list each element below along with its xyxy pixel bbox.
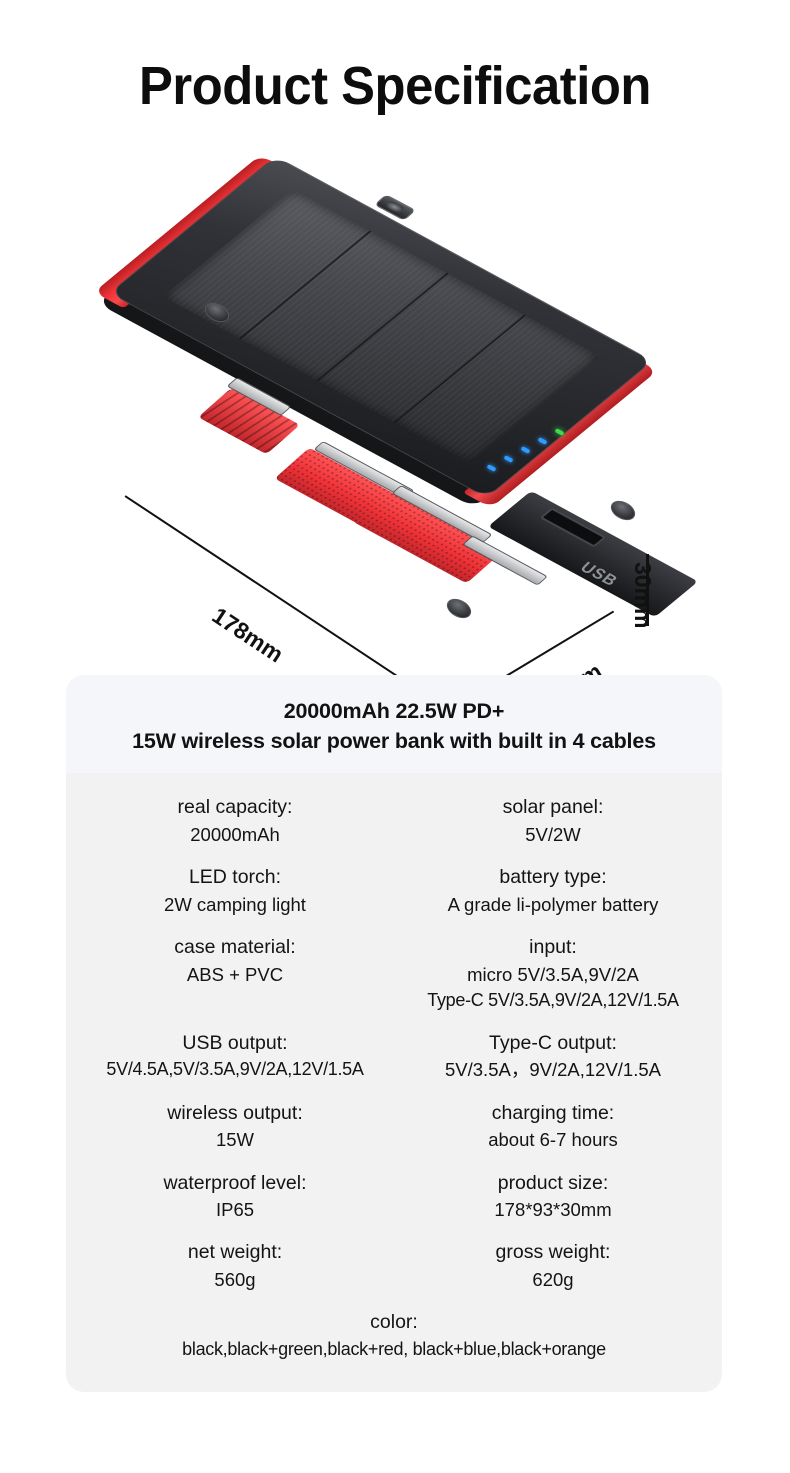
dimension-label-height: 30mm xyxy=(629,562,656,628)
spec-key: waterproof level: xyxy=(80,1170,390,1198)
spec-value: ABS + PVC xyxy=(80,962,390,988)
spec-cell-left: USB output:5V/4.5A,5V/3.5A,9V/2A,12V/1.5… xyxy=(76,1023,394,1093)
spec-value: 2W camping light xyxy=(80,892,390,918)
spec-value: 5V/3.5A，9V/2A,12V/1.5A xyxy=(398,1057,708,1083)
spec-row-color: color: black,black+green,black+red, blac… xyxy=(76,1302,712,1371)
spec-value: black,black+green,black+red, black+blue,… xyxy=(80,1337,708,1363)
spec-cell-right: Type-C output:5V/3.5A，9V/2A,12V/1.5A xyxy=(394,1023,712,1093)
spec-key: wireless output: xyxy=(80,1100,390,1128)
corner-screw xyxy=(608,497,639,524)
spec-cell-right: battery type:A grade li-polymer battery xyxy=(394,857,712,927)
spec-row: real capacity:20000mAhsolar panel:5V/2W xyxy=(76,787,712,857)
spec-value: 178*93*30mm xyxy=(398,1197,708,1223)
spec-key: LED torch: xyxy=(80,864,390,892)
spec-cell-right: input:micro 5V/3.5A,9V/2AType-C 5V/3.5A,… xyxy=(394,927,712,1023)
spec-row: net weight:560ggross weight:620g xyxy=(76,1232,712,1302)
spec-cell-left: LED torch:2W camping light xyxy=(76,857,394,927)
spec-header-line-1: 20000mAh 22.5W PD+ xyxy=(84,696,704,726)
specification-body: real capacity:20000mAhsolar panel:5V/2WL… xyxy=(66,773,722,1379)
spec-cell-right: solar panel:5V/2W xyxy=(394,787,712,857)
power-bank-illustration: USB xyxy=(106,172,666,592)
spec-value: Type-C 5V/3.5A,9V/2A,12V/1.5A xyxy=(398,988,708,1014)
spec-key: real capacity: xyxy=(80,794,390,822)
product-hero-image: USB 178mm 93mm 30mm xyxy=(0,150,790,620)
spec-key: Type-C output: xyxy=(398,1030,708,1058)
spec-cell-left: net weight:560g xyxy=(76,1232,394,1302)
spec-key: input: xyxy=(398,934,708,962)
spec-key: net weight: xyxy=(80,1239,390,1267)
specification-card: 20000mAh 22.5W PD+ 15W wireless solar po… xyxy=(66,675,722,1392)
spec-value: 560g xyxy=(80,1267,390,1293)
product-specification-page: Product Specification xyxy=(0,0,790,1473)
spec-key: color: xyxy=(80,1309,708,1337)
spec-cell-left: case material:ABS + PVC xyxy=(76,927,394,1023)
spec-value: 20000mAh xyxy=(80,822,390,848)
spec-value: micro 5V/3.5A,9V/2A xyxy=(398,962,708,988)
spec-key: gross weight: xyxy=(398,1239,708,1267)
dimension-label-length: 178mm xyxy=(207,602,288,668)
spec-key: battery type: xyxy=(398,864,708,892)
device-front-face xyxy=(488,491,698,617)
spec-row: case material:ABS + PVCinput:micro 5V/3.… xyxy=(76,927,712,1023)
spec-row: LED torch:2W camping lightbattery type:A… xyxy=(76,857,712,927)
corner-screw xyxy=(444,595,475,622)
spec-cell-right: charging time:about 6-7 hours xyxy=(394,1093,712,1163)
spec-value: 5V/2W xyxy=(398,822,708,848)
spec-key: product size: xyxy=(398,1170,708,1198)
spec-cell-left: waterproof level:IP65 xyxy=(76,1163,394,1233)
spec-key: USB output: xyxy=(80,1030,390,1058)
spec-value: 5V/4.5A,5V/3.5A,9V/2A,12V/1.5A xyxy=(80,1057,390,1083)
spec-key: charging time: xyxy=(398,1100,708,1128)
spec-cell-left: real capacity:20000mAh xyxy=(76,787,394,857)
spec-value: IP65 xyxy=(80,1197,390,1223)
spec-key: case material: xyxy=(80,934,390,962)
spec-value: 15W xyxy=(80,1127,390,1153)
page-title: Product Specification xyxy=(24,55,767,117)
spec-cell-color: color: black,black+green,black+red, blac… xyxy=(76,1302,712,1371)
spec-key: solar panel: xyxy=(398,794,708,822)
spec-row: wireless output:15Wcharging time:about 6… xyxy=(76,1093,712,1163)
spec-cell-right: gross weight:620g xyxy=(394,1232,712,1302)
spec-cell-left: wireless output:15W xyxy=(76,1093,394,1163)
spec-value: about 6-7 hours xyxy=(398,1127,708,1153)
spec-cell-right: product size:178*93*30mm xyxy=(394,1163,712,1233)
spec-row: waterproof level:IP65product size:178*93… xyxy=(76,1163,712,1233)
spec-row: USB output:5V/4.5A,5V/3.5A,9V/2A,12V/1.5… xyxy=(76,1023,712,1093)
spec-header-line-2: 15W wireless solar power bank with built… xyxy=(84,726,704,756)
specification-header: 20000mAh 22.5W PD+ 15W wireless solar po… xyxy=(66,675,722,773)
spec-value: 620g xyxy=(398,1267,708,1293)
spec-value: A grade li-polymer battery xyxy=(398,892,708,918)
